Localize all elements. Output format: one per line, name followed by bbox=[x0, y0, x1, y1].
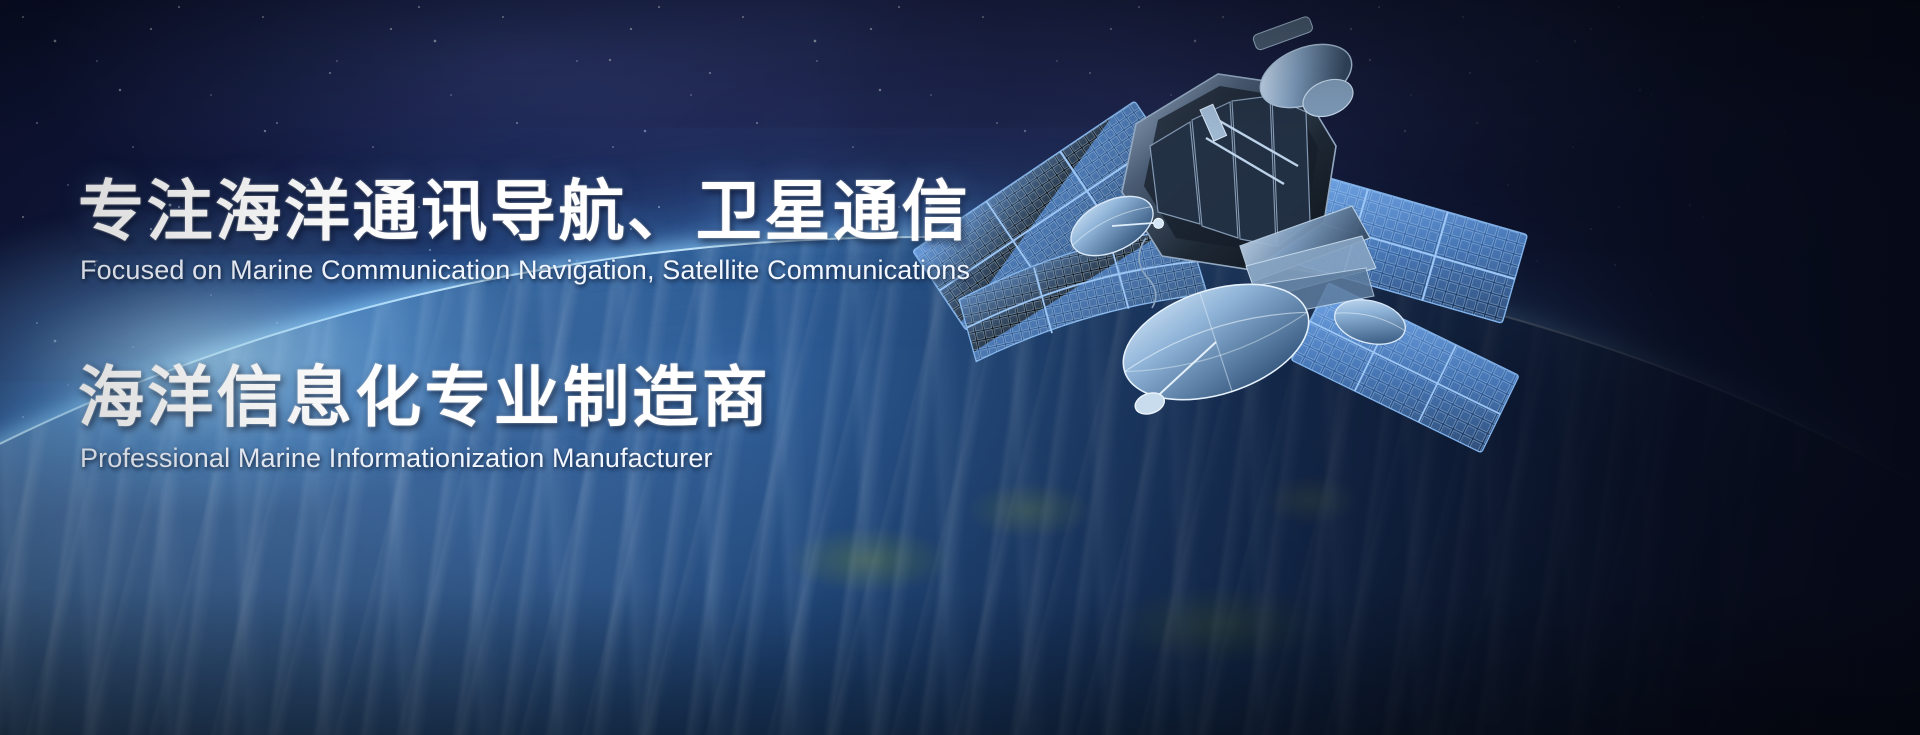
headline-copy-block: 专注海洋通讯导航、卫星通信 Focused on Marine Communic… bbox=[78, 178, 1178, 473]
headline-block-1: 专注海洋通讯导航、卫星通信 Focused on Marine Communic… bbox=[78, 178, 1178, 286]
headline-block-2: 海洋信息化专业制造商 Professional Marine Informati… bbox=[78, 364, 1178, 474]
headline-primary-en: Focused on Marine Communication Navigati… bbox=[80, 256, 1178, 286]
headline-secondary-en: Professional Marine Informationization M… bbox=[80, 444, 1178, 474]
headline-secondary-cn: 海洋信息化专业制造商 bbox=[78, 364, 1178, 430]
hero-banner: 专注海洋通讯导航、卫星通信 Focused on Marine Communic… bbox=[0, 0, 1920, 735]
headline-primary-cn: 专注海洋通讯导航、卫星通信 bbox=[78, 178, 1178, 244]
